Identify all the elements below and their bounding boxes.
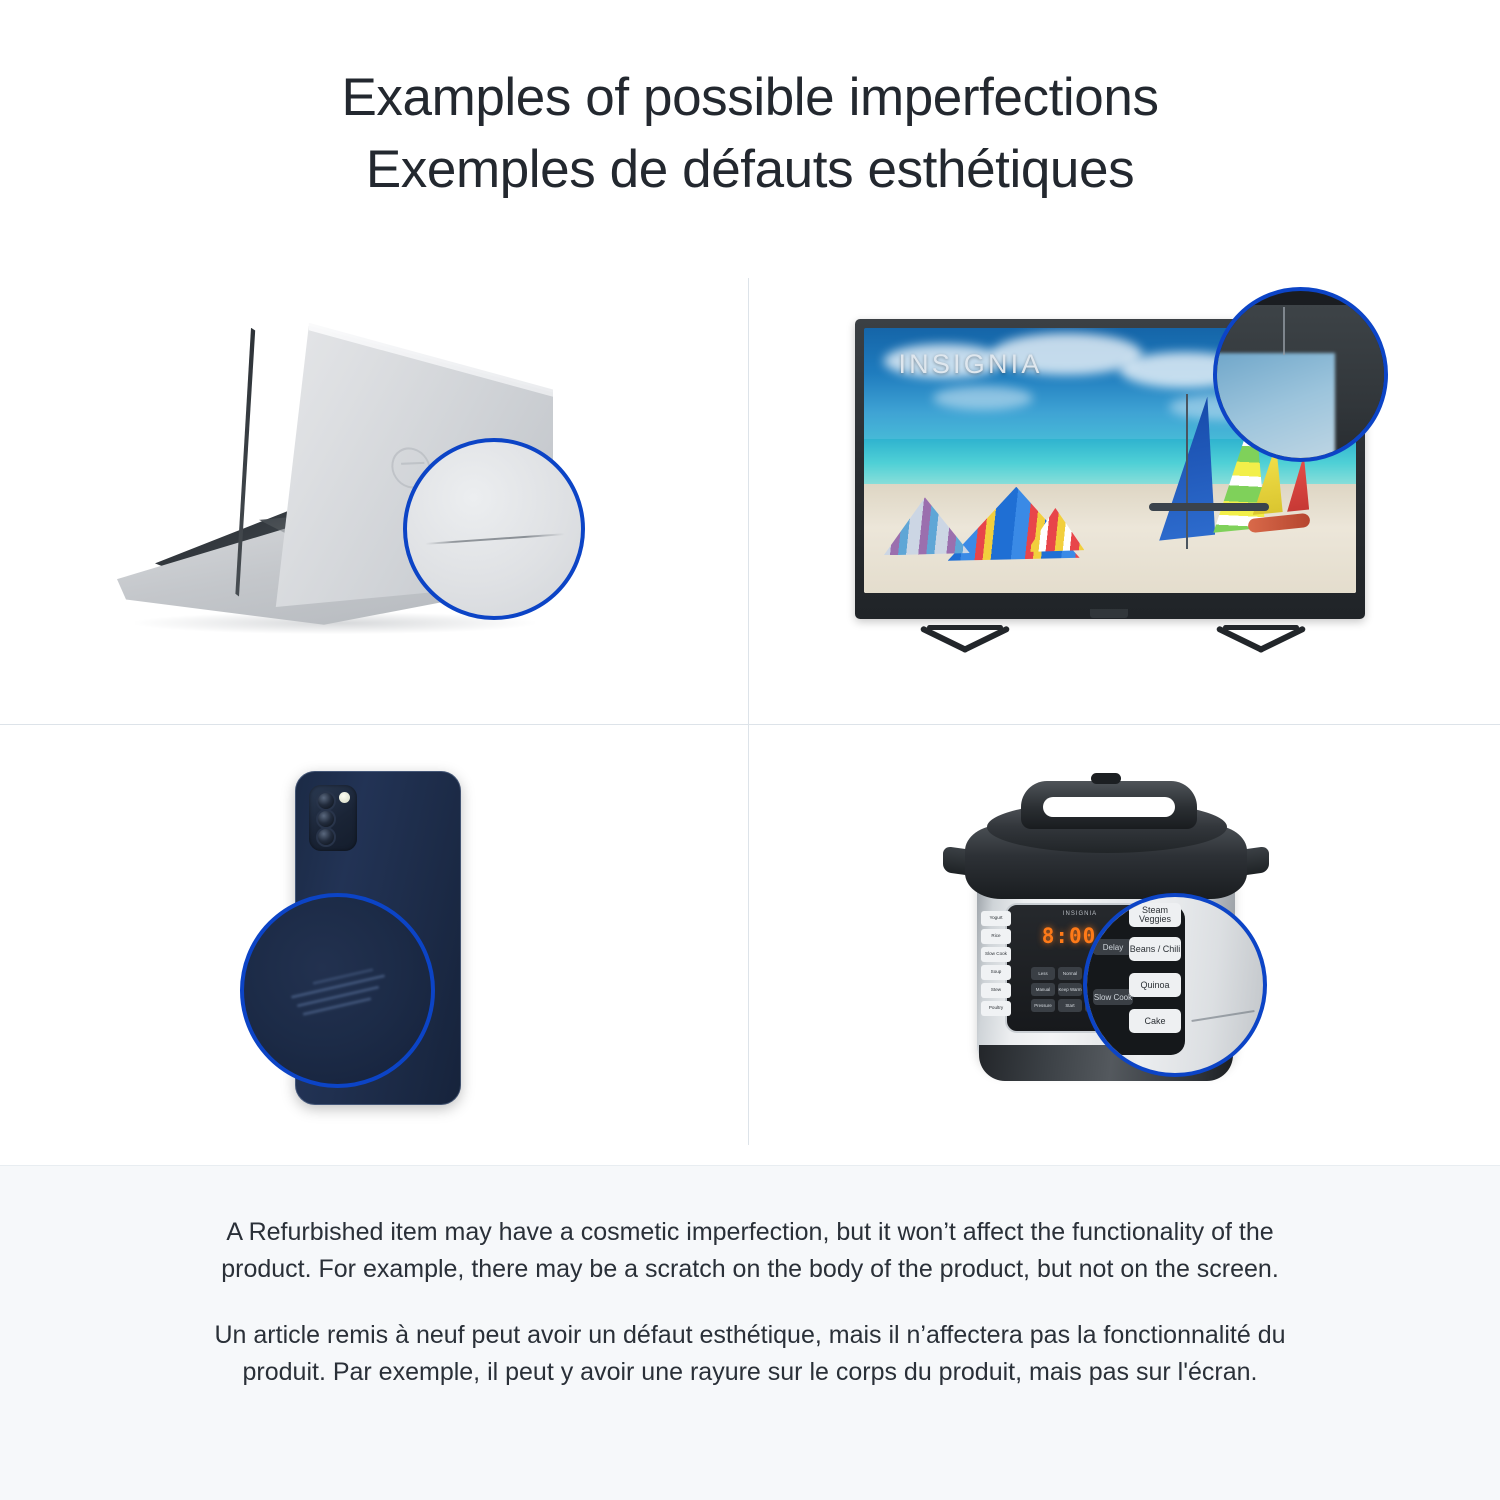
tv-leg-left: [927, 625, 1003, 630]
laptop-illustration: [95, 320, 655, 650]
tv-screen-zoom: [1213, 353, 1335, 462]
examples-grid: INSIGNIA: [0, 258, 1500, 1165]
tv-center-badge: [1090, 609, 1128, 618]
cooker-button[interactable]: Poultry: [981, 1001, 1011, 1016]
example-panel-tv: INSIGNIA: [750, 258, 1500, 712]
cooker-magnifier-circle: Delay Slow Cook Steam Veggies Beans / Ch…: [1083, 893, 1267, 1077]
tv-illustration: INSIGNIA: [845, 295, 1405, 675]
cooker-zoom-button[interactable]: Quinoa: [1129, 973, 1181, 997]
footer-paragraph-en: A Refurbished item may have a cosmetic i…: [180, 1214, 1320, 1287]
tv-magnifier-content: [1217, 291, 1384, 458]
cloud-shape: [933, 386, 1033, 410]
page-title-fr: Exemples de défauts esthétiques: [366, 134, 1134, 206]
cooker-button[interactable]: Soup: [981, 965, 1011, 980]
example-panel-laptop: [0, 258, 750, 712]
cooker-dark-button[interactable]: Pressure: [1031, 999, 1055, 1012]
phone-camera-lens: [316, 791, 336, 811]
cooker-dark-button[interactable]: Keep Warm: [1058, 983, 1082, 996]
cooker-zoom-button[interactable]: Beans / Chili: [1129, 937, 1181, 961]
cooker-button[interactable]: Slow Cook: [981, 947, 1011, 962]
cooker-dark-button[interactable]: Normal: [1058, 967, 1082, 980]
cooker-steam-valve: [1091, 773, 1121, 784]
cooker-dark-button[interactable]: Start: [1058, 999, 1082, 1012]
cooker-handle-opening: [1043, 797, 1175, 817]
laptop-magnifier-circle: [403, 438, 585, 620]
cooker-zoom-dark-button[interactable]: Slow Cook: [1093, 989, 1133, 1005]
page-header: Examples of possible imperfections Exemp…: [0, 0, 1500, 258]
phone-illustration: [165, 753, 585, 1123]
tv-magnifier-circle: [1213, 287, 1388, 462]
sailboat-mast: [1186, 394, 1188, 549]
cooker-lid-handle: [1021, 781, 1197, 829]
cooker-dark-button[interactable]: Manual: [1031, 983, 1055, 996]
phone-camera-lens: [316, 827, 336, 847]
page-title-en: Examples of possible imperfections: [341, 62, 1158, 134]
footer-paragraph-fr: Un article remis à neuf peut avoir un dé…: [180, 1317, 1320, 1390]
cooker-left-button-column: Yogurt Rice Slow Cook Soup Stew Poultry: [981, 911, 1011, 1016]
refurbished-imperfections-page: Examples of possible imperfections Exemp…: [0, 0, 1500, 1500]
cooker-button[interactable]: Stew: [981, 983, 1011, 998]
cooker-zoom-button[interactable]: Cake: [1129, 1009, 1181, 1033]
phone-magnifier-circle: [240, 893, 435, 1088]
cooker-scratch-mark: [1191, 1010, 1254, 1022]
cooker-zoom-button[interactable]: Steam Veggies: [1129, 903, 1181, 927]
cooker-button[interactable]: Rice: [981, 929, 1011, 944]
tv-brand-logo: INSIGNIA: [898, 349, 1042, 380]
example-panel-phone: [0, 712, 750, 1166]
phone-camera-lens: [316, 809, 336, 829]
page-footer: A Refurbished item may have a cosmetic i…: [0, 1165, 1500, 1500]
tv-bezel-crack: [1283, 307, 1285, 355]
laptop-scratch-mark: [425, 533, 565, 545]
tv-leg-right: [1223, 625, 1299, 630]
cooker-zoom-dark-button[interactable]: Delay: [1093, 939, 1133, 955]
cooker-dark-button[interactable]: Less: [1031, 967, 1055, 980]
phone-flash-icon: [339, 792, 350, 803]
boat-hull: [1149, 503, 1269, 511]
example-panel-pressure-cooker: INSIGNIA 8:00 Yogurt Rice Slow Cook Soup…: [750, 712, 1500, 1166]
phone-camera-module: [309, 785, 357, 851]
cooker-button[interactable]: Yogurt: [981, 911, 1011, 926]
pressure-cooker-illustration: INSIGNIA 8:00 Yogurt Rice Slow Cook Soup…: [915, 753, 1335, 1123]
